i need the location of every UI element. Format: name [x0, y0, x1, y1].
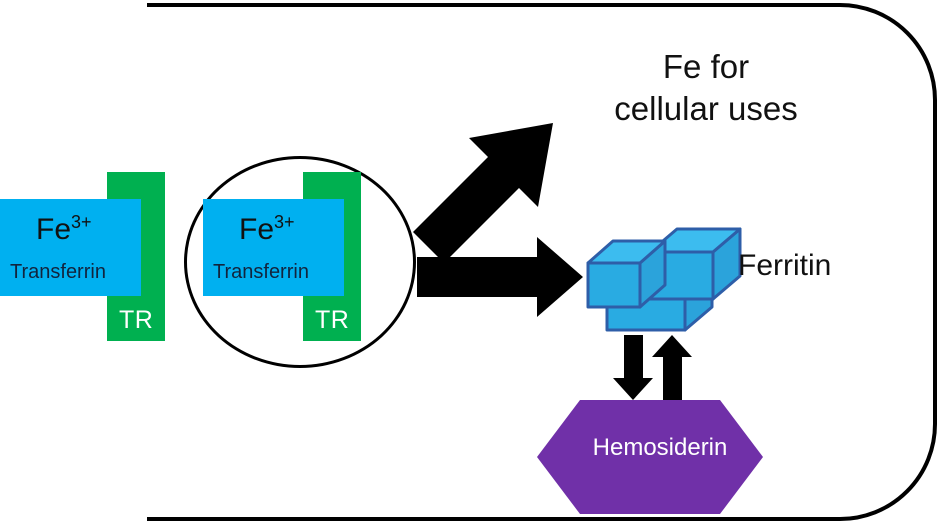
- arrow-hemosiderin-to-ferritin: [652, 335, 692, 400]
- transferrin-inside-name: Transferrin: [213, 262, 309, 282]
- arrow-ferritin-to-hemosiderin: [613, 335, 653, 400]
- fe-symbol-outside: Fe: [36, 213, 71, 246]
- diagram-canvas: TR Fe3+ Transferrin TR Fe3+ Transferrin: [0, 0, 941, 527]
- cellular-uses-line1: Fe for: [556, 46, 856, 88]
- transferrin-outside-fe-label: Fe3+: [36, 215, 92, 245]
- arrow-to-cellular-uses: [413, 123, 553, 263]
- cellular-uses-line2: cellular uses: [556, 88, 856, 130]
- transferrin-receptor-label-outside: TR: [119, 308, 153, 333]
- fe-charge-outside: 3+: [71, 212, 92, 232]
- transferrin-inside[interactable]: Fe3+ Transferrin: [203, 199, 344, 296]
- fe-symbol-inside: Fe: [239, 213, 274, 246]
- fe-charge-inside: 3+: [274, 212, 295, 232]
- cellular-uses-label: Fe for cellular uses: [556, 46, 856, 130]
- ferritin-label: Ferritin: [738, 251, 831, 281]
- transferrin-receptor-label-inside: TR: [315, 308, 349, 333]
- hemosiderin-label: Hemosiderin: [560, 436, 760, 460]
- ferritin-cube-top-left: [588, 241, 665, 307]
- transferrin-outside[interactable]: Fe3+ Transferrin: [0, 199, 141, 296]
- transferrin-inside-fe-label: Fe3+: [239, 215, 295, 245]
- transferrin-outside-name: Transferrin: [10, 262, 106, 282]
